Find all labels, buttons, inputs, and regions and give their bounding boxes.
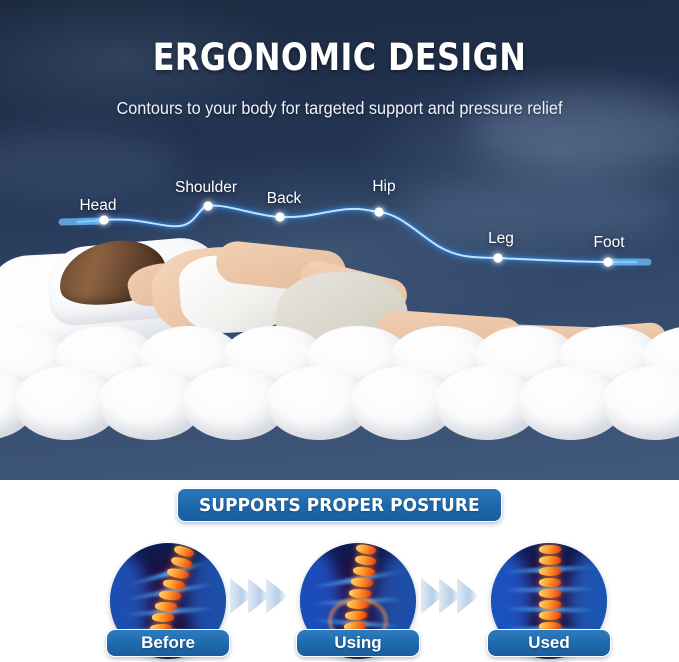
comparison-step-using: Using [300, 543, 416, 659]
mattress-puff [602, 366, 679, 440]
comparison-step-used: Used [491, 543, 607, 659]
chevron-right-icon [266, 578, 288, 614]
step-label-pill-using: Using [296, 629, 420, 657]
comparison-step-before: Before [110, 543, 226, 659]
mattress-photo [0, 236, 679, 480]
contour-dot-hip [374, 207, 383, 216]
progress-arrow-2 [419, 572, 489, 620]
banner-label: SUPPORTS PROPER POSTURE [199, 495, 480, 516]
progress-arrow-1 [228, 572, 298, 620]
contour-label-hip: Hip [372, 178, 395, 195]
contour-dot-shoulder [203, 201, 212, 210]
supports-proper-posture-banner: SUPPORTS PROPER POSTURE [177, 488, 502, 522]
contour-label-shoulder: Shoulder [175, 179, 237, 196]
step-label-using: Using [334, 633, 381, 653]
quilt-row-bottom [0, 366, 679, 438]
contour-dot-head [99, 215, 108, 224]
step-label-pill-before: Before [106, 629, 230, 657]
contour-label-head: Head [79, 197, 116, 214]
step-label-used: Used [528, 633, 570, 653]
step-label-pill-used: Used [487, 629, 611, 657]
chevron-right-icon [457, 578, 479, 614]
mattress-corner-bump [0, 481, 74, 523]
step-label-before: Before [141, 633, 195, 653]
contour-dot-back [275, 212, 284, 221]
contour-label-back: Back [267, 190, 301, 207]
